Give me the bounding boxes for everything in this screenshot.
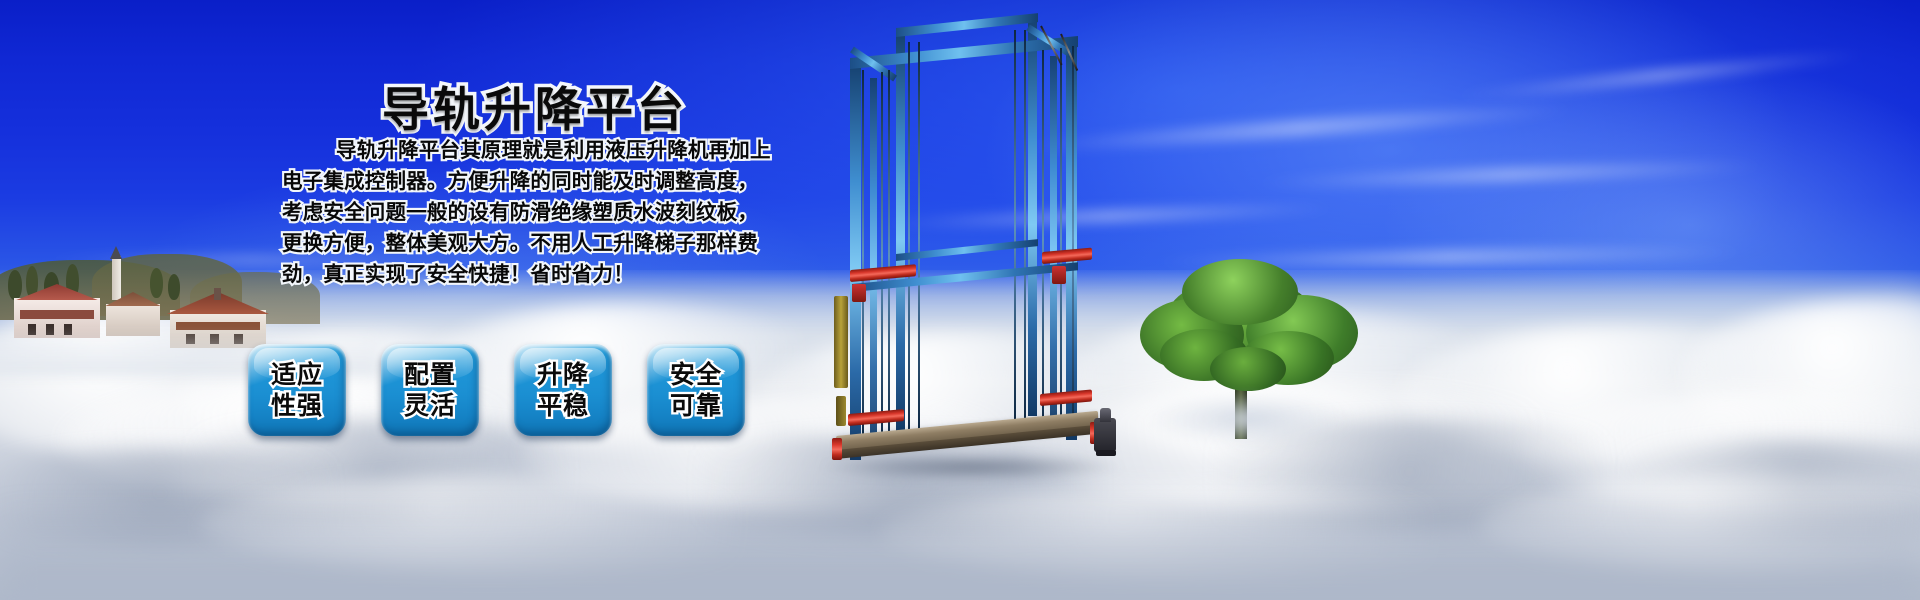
- safety-cable: [1072, 46, 1074, 430]
- safety-cable: [881, 72, 883, 442]
- feature-button-adaptability[interactable]: 适应 性强: [248, 344, 348, 438]
- carriage-roller-right: [1052, 266, 1066, 284]
- cloud-haze: [0, 510, 1920, 600]
- green-tree: [1120, 255, 1370, 440]
- frame-upright-front-left: [850, 62, 861, 460]
- paragraph-line: 电子集成控制器。方便升降的同时能及时调整高度，: [282, 166, 772, 197]
- feature-label-line2: 平稳: [537, 390, 589, 421]
- frame-upright-rear-right: [1028, 18, 1037, 416]
- paragraph-line: 更换方便，整体美观大方。不用人工升降梯子那样费: [282, 228, 772, 259]
- control-panel-lower: [836, 396, 846, 426]
- frame-upright-rear-left: [896, 32, 905, 432]
- safety-cable: [1042, 50, 1044, 430]
- guide-rail-left: [870, 78, 877, 448]
- feature-label-line2: 性强: [271, 390, 323, 421]
- feature-label-line1: 升降: [537, 359, 589, 390]
- house-chimney: [214, 288, 221, 300]
- hydraulic-motor: [1100, 408, 1111, 422]
- hydraulic-power-unit: [1094, 418, 1116, 452]
- feature-button-smooth-lifting[interactable]: 升降 平稳: [514, 344, 614, 438]
- tree-canopy: [1210, 347, 1286, 391]
- feature-button-configuration[interactable]: 配置 灵活: [381, 344, 481, 438]
- safety-cable: [862, 70, 864, 442]
- feature-label-line1: 安全: [670, 359, 722, 390]
- paragraph-line: 劲，真正实现了安全快捷！省时省力！: [282, 259, 772, 290]
- base-bracket-right: [1040, 389, 1092, 406]
- safety-cable: [1024, 30, 1026, 422]
- feature-label-line2: 灵活: [404, 390, 456, 421]
- feature-button-label: 适应 性强: [248, 344, 346, 436]
- house-balcony: [176, 322, 260, 330]
- carriage-roller-left: [852, 284, 866, 302]
- feature-button-label: 安全 可靠: [647, 344, 745, 436]
- feature-button-safety[interactable]: 安全 可靠: [647, 344, 747, 438]
- feature-label-line1: 适应: [271, 359, 323, 390]
- safety-cable: [918, 42, 920, 434]
- feature-button-row: 适应 性强 配置 灵活 升降 平稳: [248, 344, 747, 438]
- paragraph-line: 导轨升降平台其原理就是利用液压升降机再加上: [282, 135, 772, 166]
- control-panel-box: [834, 296, 848, 388]
- feature-label-line1: 配置: [404, 359, 456, 390]
- paragraph-line: 考虑安全问题一般的设有防滑绝缘塑质水波刻纹板，: [282, 197, 772, 228]
- machine-shadow: [822, 454, 1122, 480]
- tree-base-mist: [1150, 393, 1350, 445]
- guide-rail-right: [1050, 56, 1057, 428]
- safety-cable: [888, 70, 890, 442]
- page-title: 导轨升降平台: [382, 87, 688, 134]
- safety-cable: [1060, 48, 1062, 430]
- description-paragraph: 导轨升降平台其原理就是利用液压升降机再加上 电子集成控制器。方便升降的同时能及时…: [282, 135, 772, 290]
- steeple-roof: [110, 246, 122, 259]
- church-steeple: [112, 256, 121, 300]
- house-balcony: [20, 310, 94, 319]
- small-tree: [8, 270, 22, 300]
- promo-banner: 导轨升降平台 导轨升降平台其原理就是利用液压升降机再加上 电子集成控制器。方便升…: [0, 0, 1920, 600]
- safety-cable: [908, 42, 910, 434]
- feature-button-label: 升降 平稳: [514, 344, 612, 436]
- tree-canopy: [1182, 259, 1298, 325]
- feature-label-line2: 可靠: [670, 390, 722, 421]
- small-tree: [150, 268, 163, 298]
- safety-cable: [1014, 30, 1016, 422]
- small-tree: [168, 274, 180, 300]
- feature-button-label: 配置 灵活: [381, 344, 479, 436]
- guide-rail-lift-platform: [828, 18, 1128, 483]
